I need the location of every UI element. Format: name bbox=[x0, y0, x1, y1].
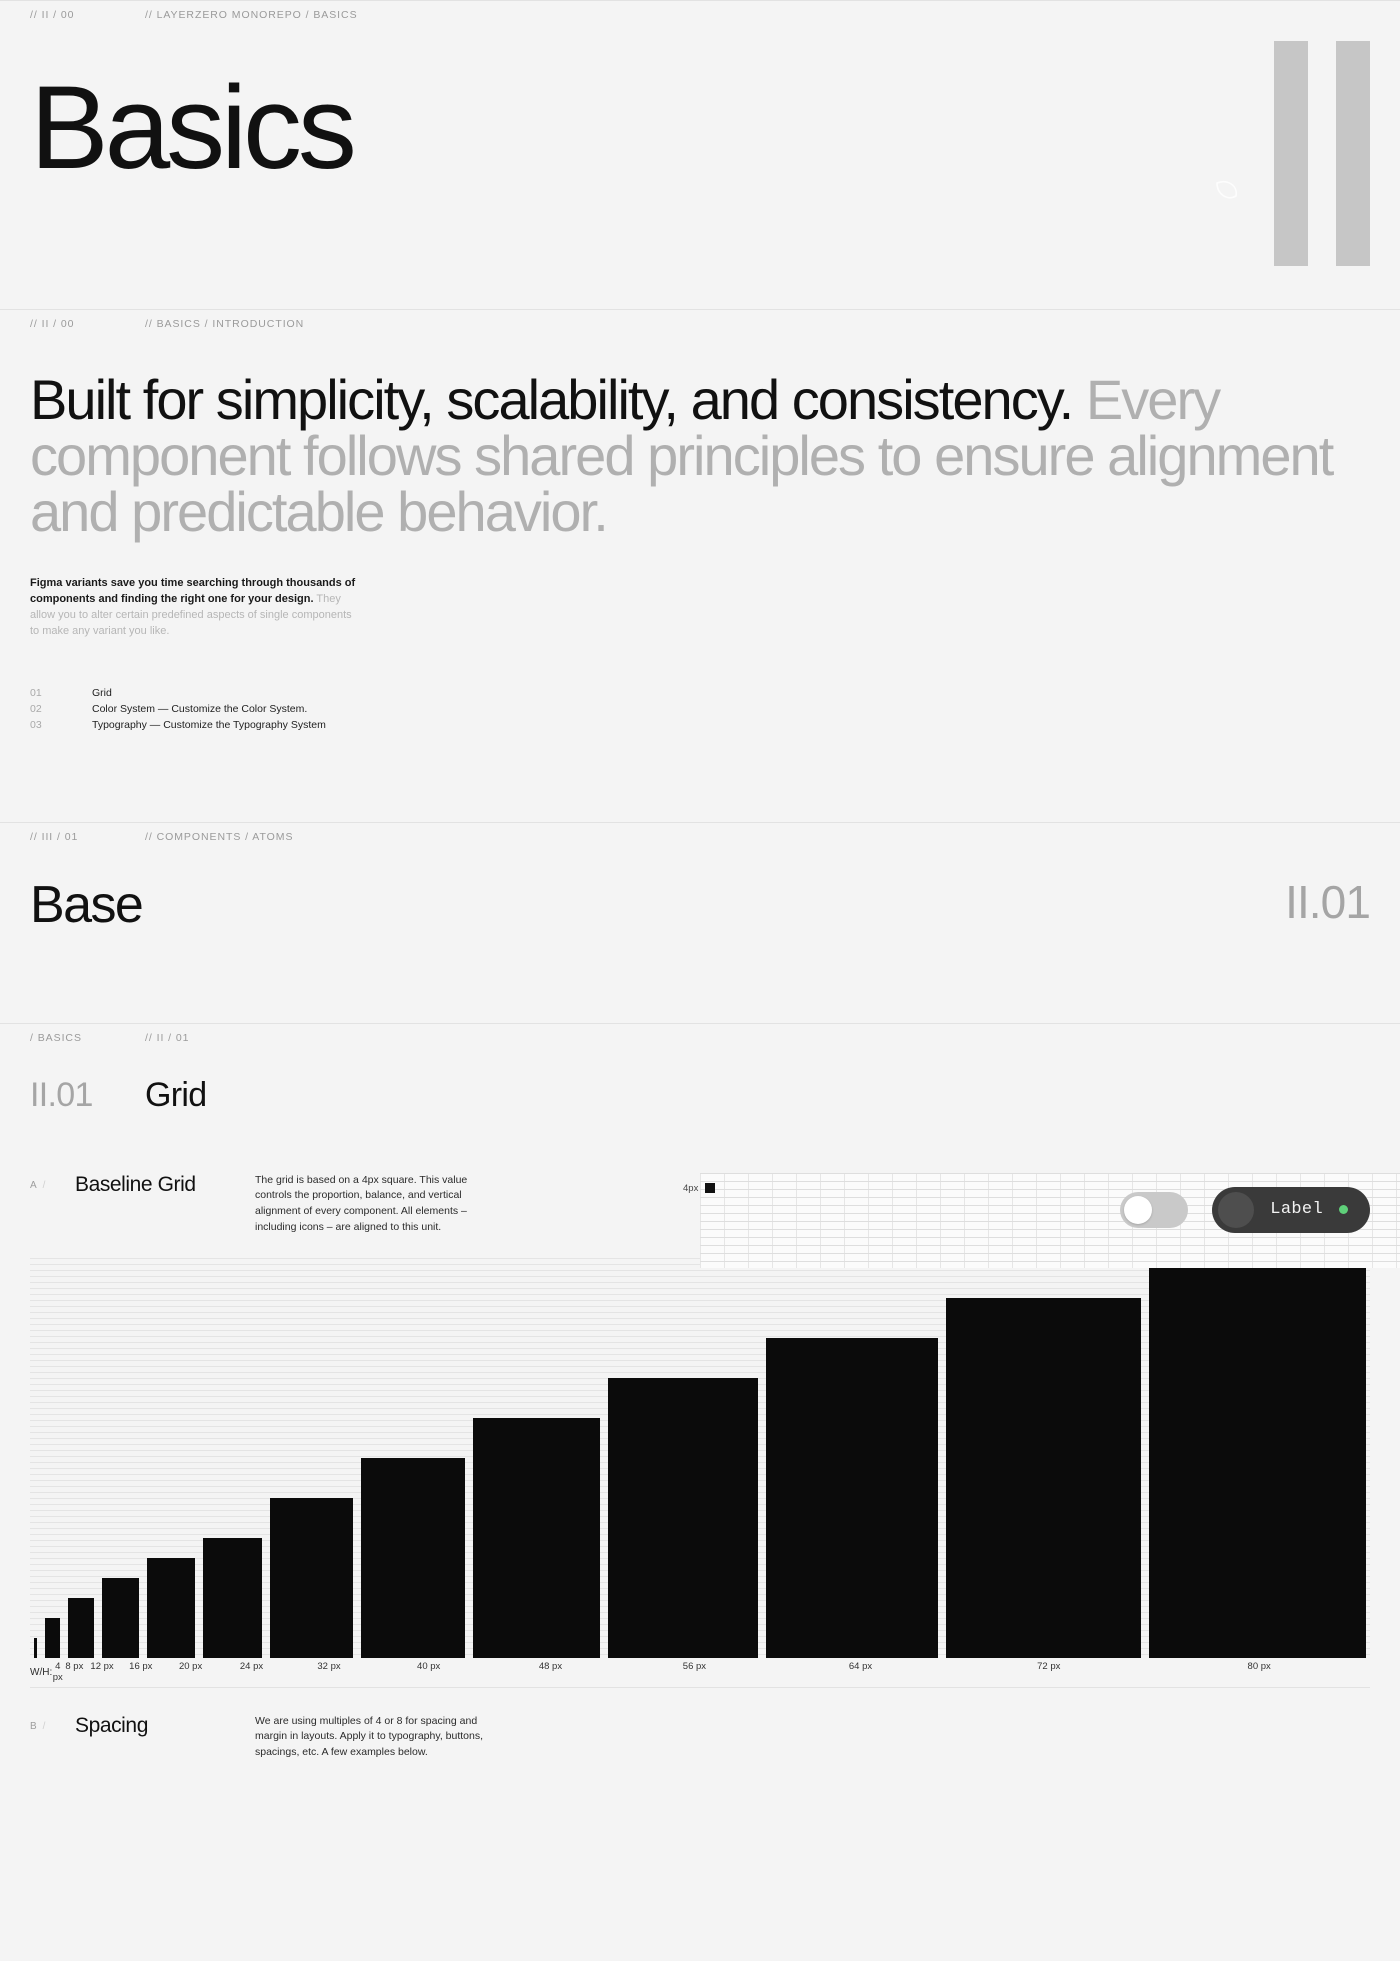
component-preview-controls: Label bbox=[1120, 1187, 1370, 1233]
intro-breadcrumb-right: // BASICS / INTRODUCTION bbox=[145, 318, 304, 330]
toggle-switch[interactable] bbox=[1120, 1192, 1188, 1228]
hero-breadcrumb-right: // LAYERZERO MONOREPO / BASICS bbox=[145, 9, 358, 21]
base-section: // III / 01 // COMPONENTS / ATOMS Base I… bbox=[0, 822, 1400, 1023]
baseline-title: Baseline Grid bbox=[75, 1173, 255, 1197]
chart-axis-label: 80 px bbox=[1148, 1661, 1369, 1683]
label-pill-text: Label bbox=[1270, 1200, 1323, 1219]
baseline-ruled-field bbox=[30, 1258, 1370, 1658]
px-unit-square bbox=[705, 1183, 715, 1193]
baseline-description: The grid is based on a 4px square. This … bbox=[255, 1173, 485, 1236]
chart-axis-label: 72 px bbox=[949, 1661, 1148, 1683]
bar-slot bbox=[30, 1258, 41, 1658]
grid-heading: II.01 Grid bbox=[0, 1052, 1400, 1115]
spacing-description: We are using multiples of 4 or 8 for spa… bbox=[255, 1714, 485, 1761]
chart-axis-label: 20 px bbox=[163, 1661, 218, 1683]
toc-number: 02 bbox=[30, 701, 92, 717]
paragraph-strong: Figma variants save you time searching t… bbox=[30, 577, 355, 605]
grid-number: II.01 bbox=[30, 1076, 145, 1115]
chart-bar bbox=[361, 1458, 466, 1658]
bar-slot bbox=[604, 1258, 762, 1658]
base-title: Base bbox=[30, 879, 142, 931]
bar-slot bbox=[41, 1258, 64, 1658]
spacing-specimen: B/ Spacing We are using multiples of 4 o… bbox=[0, 1714, 1400, 1761]
grid-name: Grid bbox=[145, 1076, 207, 1115]
chart-axis-label: 64 px bbox=[772, 1661, 949, 1683]
baseline-grid-specimen: 4px Label A/ Baseline Grid The grid is b… bbox=[0, 1173, 1400, 1236]
intro-paragraph: Figma variants save you time searching t… bbox=[30, 576, 360, 640]
base-spacer bbox=[0, 931, 1400, 1023]
intro-breadcrumb-left: // II / 00 bbox=[30, 318, 145, 330]
hero-breadcrumb-left: // II / 00 bbox=[30, 9, 145, 21]
toc-number: 03 bbox=[30, 717, 92, 733]
spacing-marker: B/ bbox=[30, 1714, 75, 1732]
base-breadcrumb: // III / 01 // COMPONENTS / ATOMS bbox=[30, 823, 1370, 851]
grid-breadcrumb-right: // II / 01 bbox=[145, 1032, 189, 1044]
chart-axis-label: 16 px bbox=[119, 1661, 163, 1683]
base-number: II.01 bbox=[1285, 879, 1370, 925]
grid-breadcrumb: / BASICS // II / 01 bbox=[30, 1024, 1370, 1052]
spacing-row: B/ Spacing We are using multiples of 4 o… bbox=[0, 1714, 1400, 1761]
label-pill[interactable]: Label bbox=[1212, 1187, 1370, 1233]
toc-label: Typography — Customize the Typography Sy… bbox=[92, 717, 326, 733]
table-of-contents: 01 Grid 02 Color System — Customize the … bbox=[30, 685, 1370, 734]
list-item[interactable]: 01 Grid bbox=[30, 685, 1370, 701]
chart-bar bbox=[147, 1558, 195, 1658]
logo-bar-right bbox=[1336, 41, 1370, 266]
baseline-marker: A/ bbox=[30, 1173, 75, 1191]
chart-axis: W/H: 4 px8 px12 px16 px20 px24 px32 px40… bbox=[30, 1658, 1370, 1688]
bar-slot bbox=[98, 1258, 143, 1658]
px-unit-label: 4px bbox=[683, 1183, 688, 1194]
spacing-title: Spacing bbox=[75, 1714, 255, 1738]
chart-bar bbox=[203, 1538, 263, 1658]
hero-section: Basics bbox=[0, 29, 1400, 309]
chart-axis-label: 32 px bbox=[285, 1661, 374, 1683]
bar-slot bbox=[143, 1258, 199, 1658]
intro-section: Built for simplicity, scalability, and c… bbox=[0, 338, 1400, 734]
chart-bar bbox=[473, 1418, 600, 1658]
toc-label: Grid bbox=[92, 685, 112, 701]
chart-bar bbox=[45, 1618, 60, 1658]
list-item[interactable]: 02 Color System — Customize the Color Sy… bbox=[30, 701, 1370, 717]
chart-axis-label: 4 px bbox=[52, 1661, 63, 1683]
chart-axis-label: 24 px bbox=[218, 1661, 284, 1683]
chart-axis-labels: 4 px8 px12 px16 px20 px24 px32 px40 px48… bbox=[52, 1661, 1370, 1683]
bar-slot bbox=[199, 1258, 267, 1658]
chart-bar bbox=[34, 1638, 37, 1658]
chart-bar bbox=[270, 1498, 352, 1658]
bar-slot bbox=[942, 1258, 1145, 1658]
logo-bar-left bbox=[1274, 41, 1308, 266]
bar-slot bbox=[469, 1258, 604, 1658]
chart-bar bbox=[766, 1338, 938, 1658]
bar-slot bbox=[357, 1258, 470, 1658]
chart-bar bbox=[608, 1378, 758, 1658]
chart-bar bbox=[68, 1598, 94, 1658]
intro-headline: Built for simplicity, scalability, and c… bbox=[30, 372, 1360, 540]
toc-number: 01 bbox=[30, 685, 92, 701]
bar-slot bbox=[266, 1258, 356, 1658]
page-title: Basics bbox=[0, 29, 1400, 187]
chart-axis-label: 40 px bbox=[373, 1661, 484, 1683]
logo-mark bbox=[1274, 41, 1370, 266]
chart-axis-label: 12 px bbox=[85, 1661, 118, 1683]
spacing-bar-chart bbox=[30, 1258, 1370, 1658]
chart-bar bbox=[102, 1578, 139, 1658]
chart-axis-label: 56 px bbox=[617, 1661, 772, 1683]
bar-slot bbox=[1145, 1258, 1370, 1658]
base-breadcrumb-right: // COMPONENTS / ATOMS bbox=[145, 831, 293, 843]
toggle-knob[interactable] bbox=[1124, 1196, 1152, 1224]
grid-breadcrumb-left: / BASICS bbox=[30, 1032, 145, 1044]
base-breadcrumb-left: // III / 01 bbox=[30, 831, 145, 843]
headline-dark: Built for simplicity, scalability, and c… bbox=[30, 368, 1072, 431]
chart-axis-label: 48 px bbox=[484, 1661, 617, 1683]
intro-breadcrumb: // II / 00 // BASICS / INTRODUCTION bbox=[30, 310, 1370, 338]
avatar bbox=[1218, 1192, 1254, 1228]
chart-axis-label: 8 px bbox=[63, 1661, 85, 1683]
chart-axis-title: W/H: bbox=[30, 1667, 52, 1678]
toc-label: Color System — Customize the Color Syste… bbox=[92, 701, 307, 717]
leaf-icon bbox=[1211, 174, 1245, 208]
bar-slot bbox=[64, 1258, 98, 1658]
chart-bar bbox=[1149, 1258, 1366, 1658]
list-item[interactable]: 03 Typography — Customize the Typography… bbox=[30, 717, 1370, 733]
bar-slot bbox=[762, 1258, 942, 1658]
status-dot-icon bbox=[1339, 1205, 1348, 1214]
chart-bar bbox=[946, 1298, 1141, 1658]
hero-breadcrumb: // II / 00 // LAYERZERO MONOREPO / BASIC… bbox=[30, 1, 1370, 29]
